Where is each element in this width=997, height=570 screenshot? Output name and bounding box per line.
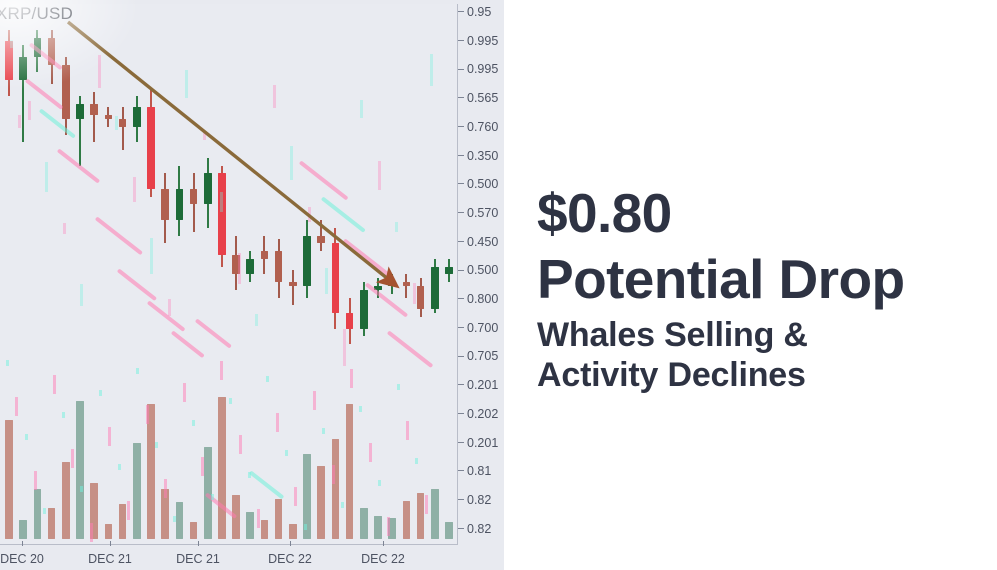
volume-bar — [161, 489, 169, 539]
candlestick — [403, 274, 411, 297]
candle-body — [161, 189, 169, 220]
volume-bar — [317, 466, 325, 539]
candle-body — [403, 282, 411, 286]
y-tick-label: 0.995 — [467, 62, 498, 76]
candlestick — [190, 173, 198, 231]
volume-bar — [388, 518, 396, 539]
candle-wick — [93, 92, 95, 142]
volume-bar — [445, 522, 453, 539]
candle-wick — [292, 270, 294, 305]
y-axis-tick: 0.500 — [458, 261, 498, 279]
y-axis-tick: 0.565 — [458, 89, 498, 107]
y-tick-mark — [458, 470, 464, 471]
y-tick-mark — [458, 97, 464, 98]
y-tick-mark — [458, 413, 464, 414]
y-tick-mark — [458, 499, 464, 500]
subhead-line-1: Whales Selling & — [537, 316, 808, 354]
y-tick-label: 0.700 — [467, 320, 498, 334]
candle-body — [374, 286, 382, 290]
volume-bar — [360, 508, 368, 539]
y-axis-tick: 0.82 — [458, 491, 491, 509]
candle-body — [332, 243, 340, 313]
ticker-label: XRP/USD — [0, 4, 73, 24]
x-tick-label: DEC 21 — [88, 552, 132, 566]
volume-bar — [332, 439, 340, 539]
candlestick — [90, 92, 98, 142]
y-axis-tick: 0.81 — [458, 462, 491, 480]
y-tick-mark — [458, 40, 464, 41]
plot-area — [0, 4, 457, 544]
candle-body — [445, 267, 453, 275]
candle-body — [133, 107, 141, 126]
volume-bar — [147, 404, 155, 539]
candlestick — [48, 30, 56, 84]
y-axis-tick: 0.500 — [458, 175, 498, 193]
candle-body — [34, 38, 42, 57]
y-tick-label: 0.995 — [467, 33, 498, 47]
y-axis-tick: 0.995 — [458, 32, 498, 50]
volume-bar — [218, 397, 226, 539]
page-title: $0.80 Potential Drop — [537, 180, 967, 312]
y-tick-label: 0.500 — [467, 177, 498, 191]
candle-body — [388, 282, 396, 286]
volume-bar — [133, 443, 141, 539]
candle-body — [62, 65, 70, 119]
candle-body — [5, 41, 13, 80]
y-axis-tick: 0.202 — [458, 405, 498, 423]
volume-bar — [19, 520, 27, 539]
y-tick-mark — [458, 356, 464, 357]
y-tick-label: 0.201 — [467, 435, 498, 449]
candle-wick — [122, 107, 124, 150]
volume-bar — [62, 462, 70, 539]
candle-wick — [405, 274, 407, 297]
y-tick-label: 0.800 — [467, 292, 498, 306]
y-axis-tick: 0.201 — [458, 376, 498, 394]
candle-body — [303, 236, 311, 286]
volume-bar — [275, 499, 283, 539]
candle-body — [431, 267, 439, 310]
candlestick — [133, 96, 141, 143]
candlestick — [5, 30, 13, 96]
volume-bar — [431, 489, 439, 539]
candle-body — [317, 236, 325, 244]
candlestick — [374, 278, 382, 297]
candlestick — [417, 278, 425, 317]
candlestick — [445, 259, 453, 282]
volume-bar — [303, 454, 311, 539]
subhead-line-2: Activity Declines — [537, 355, 967, 395]
candle-body — [261, 251, 269, 259]
candle-body — [48, 38, 56, 65]
x-tick-mark — [290, 541, 291, 546]
candle-body — [176, 189, 184, 220]
volume-bar — [346, 404, 354, 539]
x-tick-label: DEC 21 — [176, 552, 220, 566]
candlestick — [317, 220, 325, 251]
y-axis-tick: 0.760 — [458, 118, 498, 136]
candlestick — [346, 298, 354, 345]
volume-bar — [289, 524, 297, 539]
y-axis-tick: 0.95 — [458, 3, 491, 21]
candlestick — [261, 236, 269, 275]
y-tick-mark — [458, 126, 464, 127]
y-tick-mark — [458, 528, 464, 529]
candlestick — [19, 45, 27, 142]
chart-panel: XRP/USD 0.950.9950.9950.5650.7600.3500.5… — [0, 0, 504, 570]
x-tick-mark — [110, 541, 111, 546]
volume-bar — [374, 516, 382, 539]
candle-body — [232, 255, 240, 274]
volume-bar — [232, 495, 240, 539]
y-axis-tick: 0.201 — [458, 434, 498, 452]
candle-body — [105, 115, 113, 119]
volume-bar — [176, 502, 184, 539]
candle-body — [147, 107, 155, 189]
candle-body — [19, 57, 27, 80]
y-tick-label: 0.201 — [467, 378, 498, 392]
candle-body — [360, 290, 368, 329]
volume-bar — [34, 489, 42, 539]
candlestick — [332, 228, 340, 329]
y-tick-mark — [458, 11, 464, 12]
y-axis-tick: 0.82 — [458, 520, 491, 538]
x-tick-mark — [198, 541, 199, 546]
candle-body — [76, 104, 84, 120]
x-tick-label: DEC 22 — [268, 552, 312, 566]
y-axis-tick: 0.995 — [458, 60, 498, 78]
candlestick — [62, 57, 70, 135]
y-axis-tick: 0.570 — [458, 204, 498, 222]
y-tick-label: 0.565 — [467, 91, 498, 105]
y-tick-label: 0.202 — [467, 407, 498, 421]
candlestick — [360, 282, 368, 336]
volume-bar — [403, 501, 411, 539]
y-tick-label: 0.82 — [467, 493, 491, 507]
y-tick-label: 0.95 — [467, 5, 491, 19]
volume-bar — [246, 512, 254, 539]
candle-body — [190, 189, 198, 205]
x-tick-label: DEC 22 — [361, 552, 405, 566]
y-tick-mark — [458, 241, 464, 242]
candlestick — [119, 107, 127, 150]
volume-bar — [190, 522, 198, 539]
candle-body — [346, 313, 354, 329]
candlestick — [275, 239, 283, 297]
y-axis-tick: 0.350 — [458, 147, 498, 165]
volume-bar — [48, 508, 56, 539]
headline-subject: Potential Drop — [537, 246, 967, 312]
price-axis: 0.950.9950.9950.5650.7600.3500.5000.5700… — [458, 0, 504, 545]
candlestick — [246, 251, 254, 282]
plot-frame — [0, 4, 458, 545]
y-tick-mark — [458, 298, 464, 299]
candle-body — [119, 119, 127, 127]
x-tick-label: DEC 20 — [0, 552, 44, 566]
volume-bar — [417, 493, 425, 539]
y-tick-mark — [458, 442, 464, 443]
candlestick — [176, 166, 184, 236]
headline-price: $0.80 — [537, 182, 672, 244]
candle-body — [417, 286, 425, 309]
y-tick-mark — [458, 183, 464, 184]
candlestick — [76, 96, 84, 166]
y-tick-mark — [458, 384, 464, 385]
candle-body — [90, 104, 98, 116]
y-axis-tick: 0.450 — [458, 233, 498, 251]
candlestick — [147, 88, 155, 197]
y-tick-mark — [458, 69, 464, 70]
volume-bar — [90, 483, 98, 539]
y-axis-tick: 0.800 — [458, 290, 498, 308]
screenshot-root: XRP/USD 0.950.9950.9950.5650.7600.3500.5… — [0, 0, 997, 570]
y-tick-label: 0.705 — [467, 349, 498, 363]
y-axis-tick: 0.700 — [458, 319, 498, 337]
candlestick — [105, 107, 113, 126]
y-tick-mark — [458, 155, 464, 156]
candlestick — [289, 270, 297, 305]
y-tick-label: 0.500 — [467, 263, 498, 277]
candle-body — [246, 259, 254, 275]
candlestick — [431, 259, 439, 313]
subheading: Whales Selling & Activity Declines — [537, 315, 967, 395]
promo-panel: $0.80 Potential Drop Whales Selling & Ac… — [504, 0, 997, 570]
y-tick-label: 0.82 — [467, 521, 491, 535]
x-tick-mark — [22, 541, 23, 546]
candlestick — [218, 166, 226, 267]
volume-bar — [204, 447, 212, 539]
candle-body — [218, 173, 226, 255]
candlestick — [303, 220, 311, 298]
x-tick-mark — [383, 541, 384, 546]
candle-body — [289, 282, 297, 286]
y-tick-label: 0.570 — [467, 206, 498, 220]
volume-bar — [76, 401, 84, 539]
y-axis-tick: 0.705 — [458, 347, 498, 365]
candlestick — [232, 236, 240, 290]
date-axis: DEC 20DEC 21DEC 21DEC 22DEC 22 — [0, 545, 504, 570]
y-tick-label: 0.760 — [467, 120, 498, 134]
volume-bar — [119, 504, 127, 539]
y-tick-label: 0.81 — [467, 464, 491, 478]
candle-body — [204, 173, 212, 204]
candlestick — [204, 158, 212, 228]
volume-bar — [261, 520, 269, 539]
candle-body — [275, 251, 283, 282]
y-tick-mark — [458, 327, 464, 328]
y-tick-mark — [458, 212, 464, 213]
candlestick — [34, 30, 42, 73]
y-tick-label: 0.350 — [467, 148, 498, 162]
volume-bar — [5, 420, 13, 539]
candlestick — [161, 173, 169, 243]
y-tick-label: 0.450 — [467, 234, 498, 248]
volume-bar — [105, 524, 113, 539]
y-tick-mark — [458, 270, 464, 271]
candlestick — [388, 274, 396, 293]
